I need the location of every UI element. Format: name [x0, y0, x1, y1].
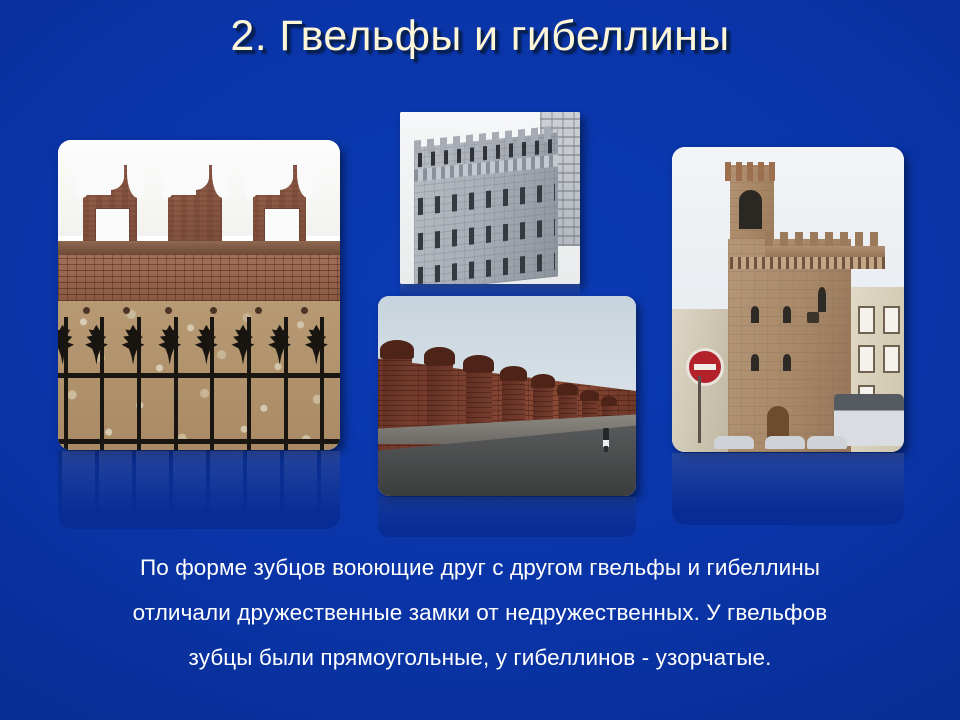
fence-bar: [64, 317, 68, 450]
photo-ghibelline-wall-fence-reflection: [58, 451, 340, 529]
gothic-window: [783, 354, 791, 371]
pedestrian: [602, 428, 610, 452]
entrance-door: [767, 406, 789, 440]
fence-bar: [320, 317, 324, 450]
sign-post: [698, 376, 701, 443]
gothic-window: [751, 306, 759, 323]
slide-body-text: По форме зубцов воюющие друг с другом гв…: [60, 545, 900, 680]
street-lamp: [807, 312, 819, 323]
photo-palazzo-vecchio-bw-canvas: [400, 112, 580, 284]
gothic-window: [751, 354, 759, 371]
reflection-fade: [378, 497, 636, 537]
gothic-window: [818, 287, 826, 312]
photo-ghibelline-wall-fence[interactable]: [58, 140, 340, 450]
putlog-hole: [301, 307, 308, 314]
photo-bargello-florence[interactable]: [672, 147, 904, 452]
swallowtail-merlon: [383, 348, 411, 436]
swallowtail-merlon: [168, 165, 222, 243]
body-line-1: По форме зубцов воюющие друг с другом гв…: [60, 545, 900, 590]
photo-bargello-florence-canvas: [672, 147, 904, 452]
photo-ponte-scaligero-wall[interactable]: [378, 296, 636, 496]
fence-finial: [83, 325, 109, 365]
fence-finial: [120, 325, 146, 365]
parked-car: [714, 436, 754, 449]
photo-ponte-scaligero-wall-canvas: [378, 296, 636, 496]
parked-car: [765, 436, 805, 449]
swallowtail-merlon: [427, 354, 453, 436]
shuttered-window: [858, 345, 875, 373]
presentation-slide: 2. Гвельфы и гибеллины: [0, 0, 960, 720]
wall-cornice: [58, 241, 340, 255]
no-entry-sign: [686, 348, 724, 386]
fence-finial: [230, 325, 256, 365]
fence-finial: [193, 325, 219, 365]
iron-fence: [58, 317, 340, 450]
shuttered-window: [883, 345, 900, 373]
fence-bar: [137, 317, 141, 450]
slide-title: 2. Гвельфы и гибеллины: [0, 12, 960, 60]
belfry-opening: [739, 190, 762, 230]
photo-ponte-scaligero-wall-reflection: [378, 497, 636, 537]
fence-rail: [58, 439, 340, 444]
fence-finial: [267, 325, 293, 365]
fence-finial: [157, 325, 183, 365]
body-line-3: зубцы были прямоугольные, у гибеллинов -…: [60, 635, 900, 680]
photo-ghibelline-wall-fence-canvas: [58, 140, 340, 450]
photo-bargello-florence-reflection: [672, 453, 904, 525]
fence-bar: [174, 317, 178, 450]
brick-course: [58, 255, 340, 302]
fence-rail: [58, 373, 340, 378]
fence-bar: [284, 317, 288, 450]
tower-merlons: [725, 162, 778, 180]
palace-body: [728, 239, 851, 453]
fence-bar: [210, 317, 214, 450]
shuttered-window: [883, 306, 900, 334]
body-line-2: отличали дружественные замки от недружес…: [60, 590, 900, 635]
corbel-arcade: [730, 257, 885, 269]
gothic-window: [783, 306, 791, 323]
parked-car: [807, 436, 847, 449]
fence-bar: [247, 317, 251, 450]
reflection-fade: [58, 451, 340, 529]
fence-bar: [100, 317, 104, 450]
photo-palazzo-vecchio-bw[interactable]: [400, 112, 580, 284]
fence-finial: [303, 325, 329, 365]
reflection-fade: [672, 453, 904, 525]
shuttered-window: [858, 306, 875, 334]
